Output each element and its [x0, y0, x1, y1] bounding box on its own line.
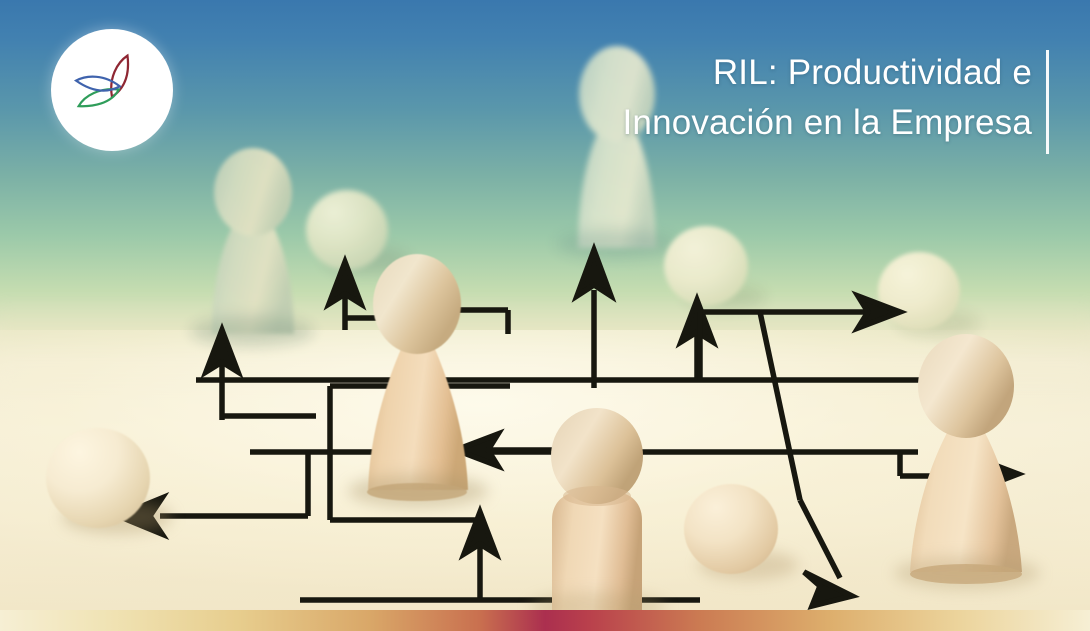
pawn-silhouette	[536, 408, 658, 610]
pawn-silhouette	[352, 252, 482, 510]
trefoil-logo	[51, 29, 173, 151]
presentation-banner: RIL: Productividad e Innovación en la Em…	[0, 0, 1090, 631]
page-title: RIL: Productividad e Innovación en la Em…	[472, 48, 1032, 148]
piece-pawn-mid-left	[352, 252, 482, 510]
title-vertical-rule	[1046, 50, 1049, 154]
ball-body	[878, 252, 960, 330]
piece-pawn-front-center	[536, 408, 658, 610]
piece-pawn-front-right	[896, 330, 1032, 592]
arrowhead-down	[804, 572, 852, 606]
page-title-line-2: Innovación en la Empresa	[472, 98, 1032, 148]
ball-body	[664, 226, 748, 306]
piece-pawn-back-left	[196, 148, 308, 344]
trefoil-icon	[69, 47, 155, 133]
piece-ball-front-center	[684, 484, 786, 582]
piece-ball-back-right	[664, 226, 754, 312]
arrowhead-up	[464, 512, 496, 554]
piece-ball-front-left	[46, 428, 158, 536]
pawn-silhouette	[896, 330, 1032, 592]
piece-ball-far-right	[878, 252, 968, 338]
pawn-silhouette	[196, 148, 308, 344]
ball-body	[46, 428, 150, 528]
accent-gradient-bar	[0, 610, 1090, 631]
petal-top-right	[111, 56, 128, 97]
ball-body	[684, 484, 778, 574]
page-title-line-1: RIL: Productividad e	[472, 48, 1032, 98]
